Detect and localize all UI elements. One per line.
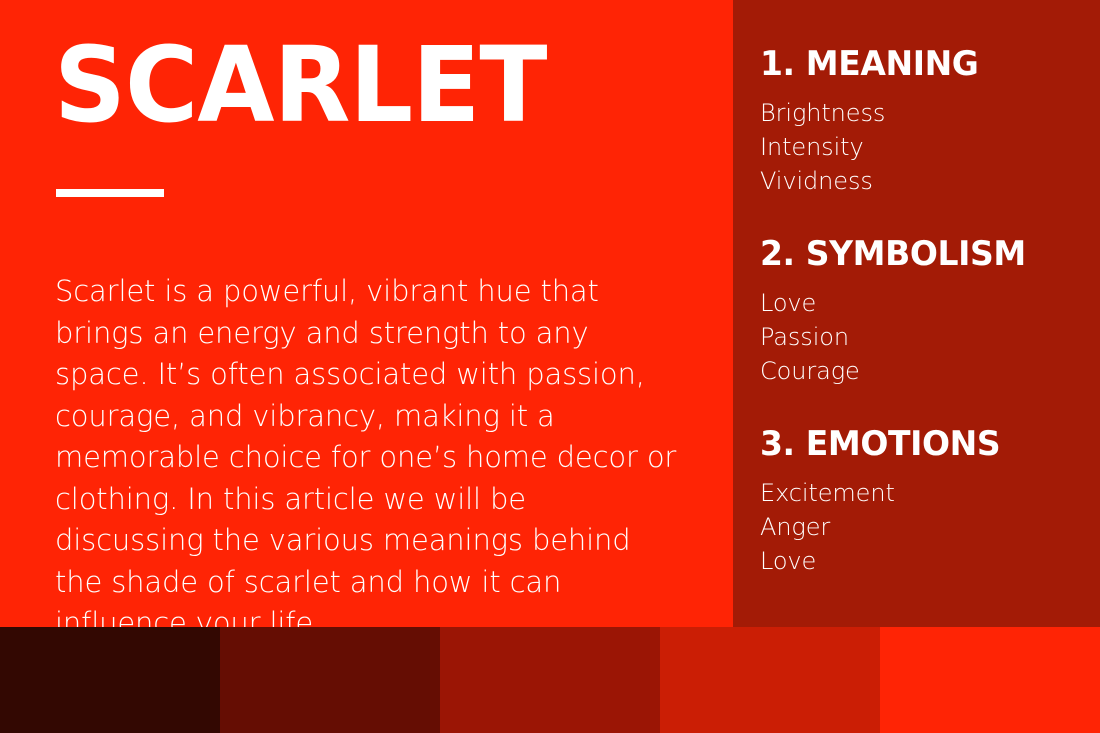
sidebar-section-meaning: 1. MEANING Brightness Intensity Vividnes… (760, 44, 1090, 198)
swatch-bright-scarlet (660, 627, 880, 733)
left-content-panel: SCARLET Scarlet is a powerful, vibrant h… (0, 0, 733, 627)
section-heading-symbolism: 2. SYMBOLISM (760, 234, 1080, 274)
swatch-darkest-maroon (0, 627, 220, 733)
sidebar-section-symbolism: 2. SYMBOLISM Love Passion Courage (760, 234, 1090, 388)
section-list-symbolism: Love Passion Courage (760, 286, 1090, 388)
swatch-dark-maroon (220, 627, 440, 733)
poster-panels: SCARLET Scarlet is a powerful, vibrant h… (0, 0, 1100, 627)
color-palette-strip (0, 627, 1100, 733)
section-list-meaning: Brightness Intensity Vividness (760, 96, 1090, 198)
list-item: Love (760, 286, 1090, 320)
list-item: Excitement (760, 476, 1090, 510)
scarlet-poster: SCARLET Scarlet is a powerful, vibrant h… (0, 0, 1100, 733)
right-sidebar-panel: 1. MEANING Brightness Intensity Vividnes… (733, 0, 1100, 627)
list-item: Courage (760, 354, 1090, 388)
list-item: Passion (760, 320, 1090, 354)
list-item: Anger (760, 510, 1090, 544)
list-item: Love (760, 544, 1090, 578)
body-paragraph: Scarlet is a powerful, vibrant hue that … (55, 271, 680, 645)
swatch-vivid-scarlet (880, 627, 1100, 733)
list-item: Vividness (760, 164, 1090, 198)
list-item: Brightness (760, 96, 1090, 130)
section-heading-meaning: 1. MEANING (760, 44, 1080, 84)
section-list-emotions: Excitement Anger Love (760, 476, 1090, 578)
section-heading-emotions: 3. EMOTIONS (760, 424, 1080, 464)
swatch-deep-scarlet (440, 627, 660, 733)
list-item: Intensity (760, 130, 1090, 164)
page-title: SCARLET (54, 28, 547, 142)
title-underline-rule (56, 189, 164, 197)
sidebar-section-emotions: 3. EMOTIONS Excitement Anger Love (760, 424, 1090, 578)
